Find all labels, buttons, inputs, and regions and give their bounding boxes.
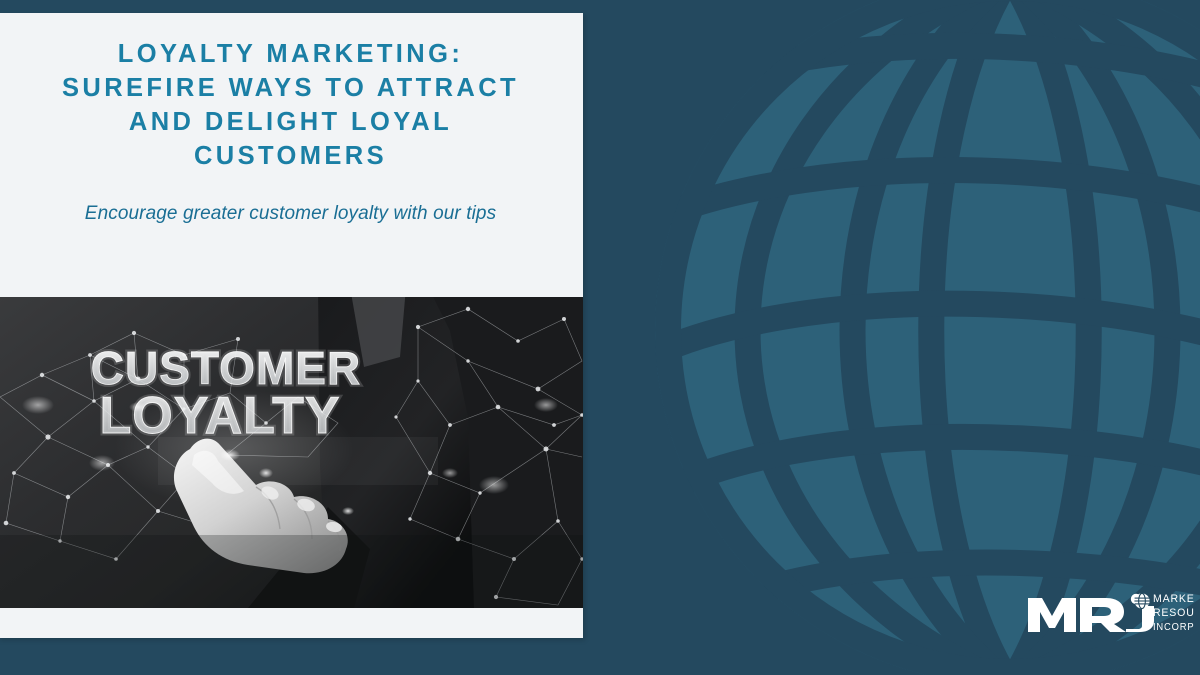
- logo-line-3: INCORPORATED: [1153, 622, 1194, 633]
- content-card: LOYALTY MARKETING: SUREFIRE WAYS TO ATTR…: [0, 13, 583, 638]
- page-subtitle: Encourage greater customer loyalty with …: [20, 173, 561, 225]
- page-title: LOYALTY MARKETING: SUREFIRE WAYS TO ATTR…: [20, 37, 561, 173]
- logo-line-2: RESOURCES: [1153, 607, 1194, 619]
- slide-canvas: LOYALTY MARKETING: SUREFIRE WAYS TO ATTR…: [0, 0, 1200, 675]
- card-text-block: LOYALTY MARKETING: SUREFIRE WAYS TO ATTR…: [0, 13, 583, 297]
- hero-photo: CUSTOMER CUSTOMER CUSTOMER LOYALTY LOYAL…: [0, 297, 583, 608]
- logo-line-1: MARKETING: [1153, 593, 1194, 605]
- globe-icon: [1134, 593, 1149, 608]
- mri-logo: MARKETING RESOURCES INCORPORATED: [1026, 590, 1194, 636]
